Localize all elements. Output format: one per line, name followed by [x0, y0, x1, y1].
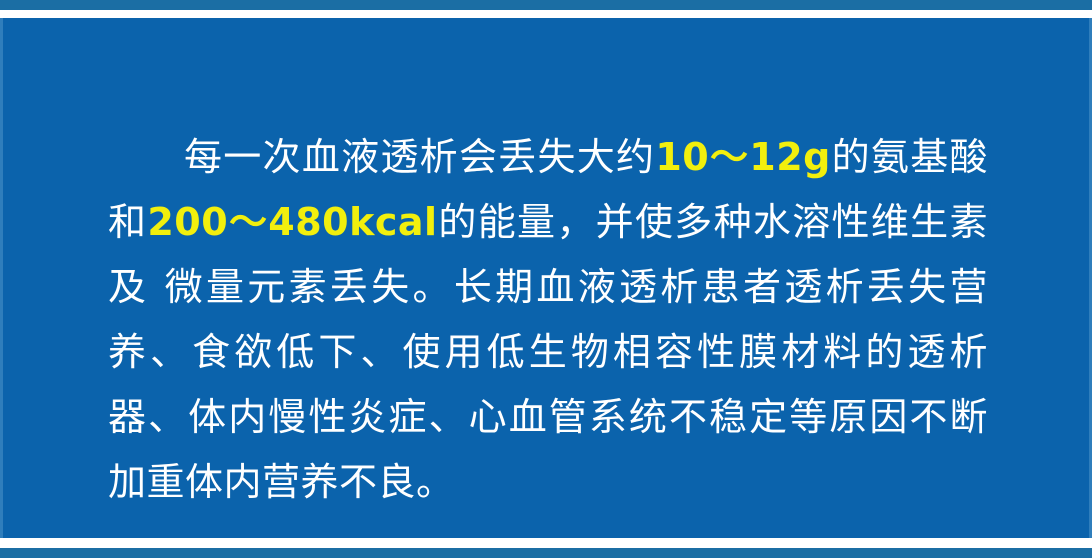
body-text-block: 每一次血液透析会丢失大约10～12g的氨基酸 和200～480kcal的能量，并…	[108, 125, 988, 515]
slide-canvas: 每一次血液透析会丢失大约10～12g的氨基酸 和200～480kcal的能量，并…	[0, 0, 1092, 558]
highlight-energy-amount: 200～480kcal	[147, 200, 437, 244]
bottom-accent-bar	[0, 548, 1092, 558]
content-panel: 每一次血液透析会丢失大约10～12g的氨基酸 和200～480kcal的能量，并…	[0, 18, 1092, 538]
top-accent-bar	[0, 0, 1092, 10]
text-segment-3: 的能量，并使多种水溶性维生素及 微量元素丢失。长期血液透析患者透析丢失营养、食欲…	[108, 200, 988, 504]
highlight-amino-acid-amount: 10～12g	[655, 135, 831, 179]
text-segment-1: 每一次血液透析会丢失大约	[184, 135, 655, 179]
body-paragraph: 每一次血液透析会丢失大约10～12g的氨基酸 和200～480kcal的能量，并…	[108, 125, 988, 515]
bottom-gap	[0, 538, 1092, 548]
top-gap	[0, 10, 1092, 18]
